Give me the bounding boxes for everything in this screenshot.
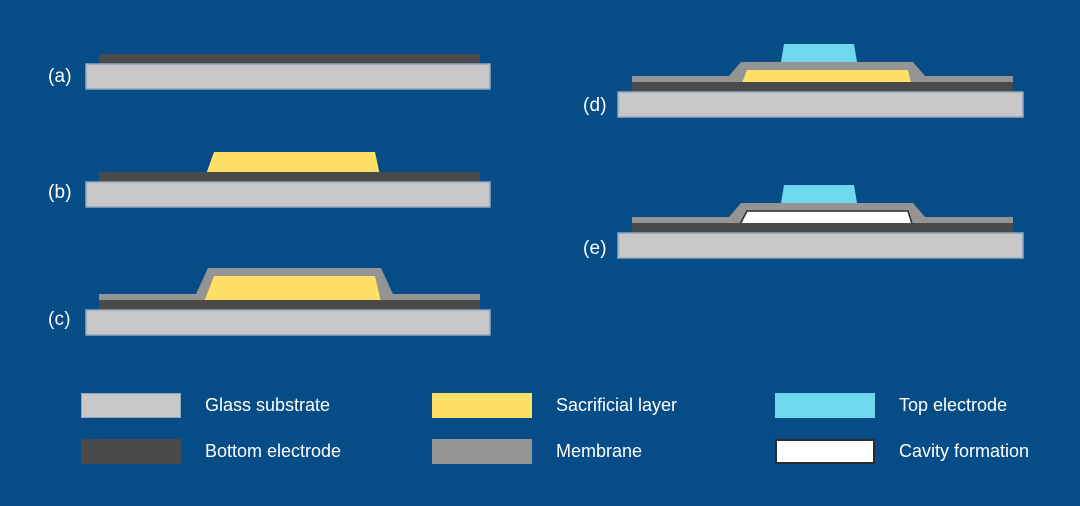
- legend-item-top-electrode: Top electrode: [775, 393, 1007, 418]
- legend-label-glass-substrate: Glass substrate: [205, 395, 330, 416]
- panel-label-c: (c): [48, 309, 71, 331]
- panel-label-b: (b): [48, 182, 72, 204]
- panel-e-diagram: [618, 185, 1023, 258]
- legend-label-membrane: Membrane: [556, 441, 642, 462]
- panel-label-a: (a): [48, 66, 72, 88]
- legend-item-bottom-electrode: Bottom electrode: [81, 439, 341, 464]
- panel-a-glass-substrate: [86, 64, 490, 89]
- legend-item-cavity-formation: Cavity formation: [775, 439, 1029, 464]
- legend-label-bottom-electrode: Bottom electrode: [205, 441, 341, 462]
- panel-c-sacrificial-layer: [204, 276, 381, 302]
- panel-a-diagram: [86, 54, 490, 89]
- panel-d-diagram: [618, 44, 1023, 117]
- panel-c-diagram: [86, 268, 490, 335]
- legend-label-cavity-formation: Cavity formation: [899, 441, 1029, 462]
- panel-d-glass-substrate: [618, 92, 1023, 117]
- panel-b-diagram: [86, 152, 490, 207]
- fabrication-process-figure: (a) (b) (c) (d) (e) Glass substrate Bott…: [0, 0, 1080, 506]
- cavity-formation-swatch: [775, 439, 875, 464]
- legend-label-sacrificial-layer: Sacrificial layer: [556, 395, 677, 416]
- panel-e-glass-substrate: [618, 233, 1023, 258]
- process-panels-svg: [0, 0, 1080, 506]
- panel-label-d: (d): [583, 95, 607, 117]
- legend-item-sacrificial-layer: Sacrificial layer: [432, 393, 677, 418]
- glass-substrate-swatch: [81, 393, 181, 418]
- panel-b-glass-substrate: [86, 182, 490, 207]
- legend-label-top-electrode: Top electrode: [899, 395, 1007, 416]
- legend-item-membrane: Membrane: [432, 439, 642, 464]
- top-electrode-swatch: [775, 393, 875, 418]
- legend-item-glass-substrate: Glass substrate: [81, 393, 330, 418]
- panel-label-e: (e): [583, 238, 607, 260]
- sacrificial-layer-swatch: [432, 393, 532, 418]
- bottom-electrode-swatch: [81, 439, 181, 464]
- panel-c-glass-substrate: [86, 310, 490, 335]
- membrane-swatch: [432, 439, 532, 464]
